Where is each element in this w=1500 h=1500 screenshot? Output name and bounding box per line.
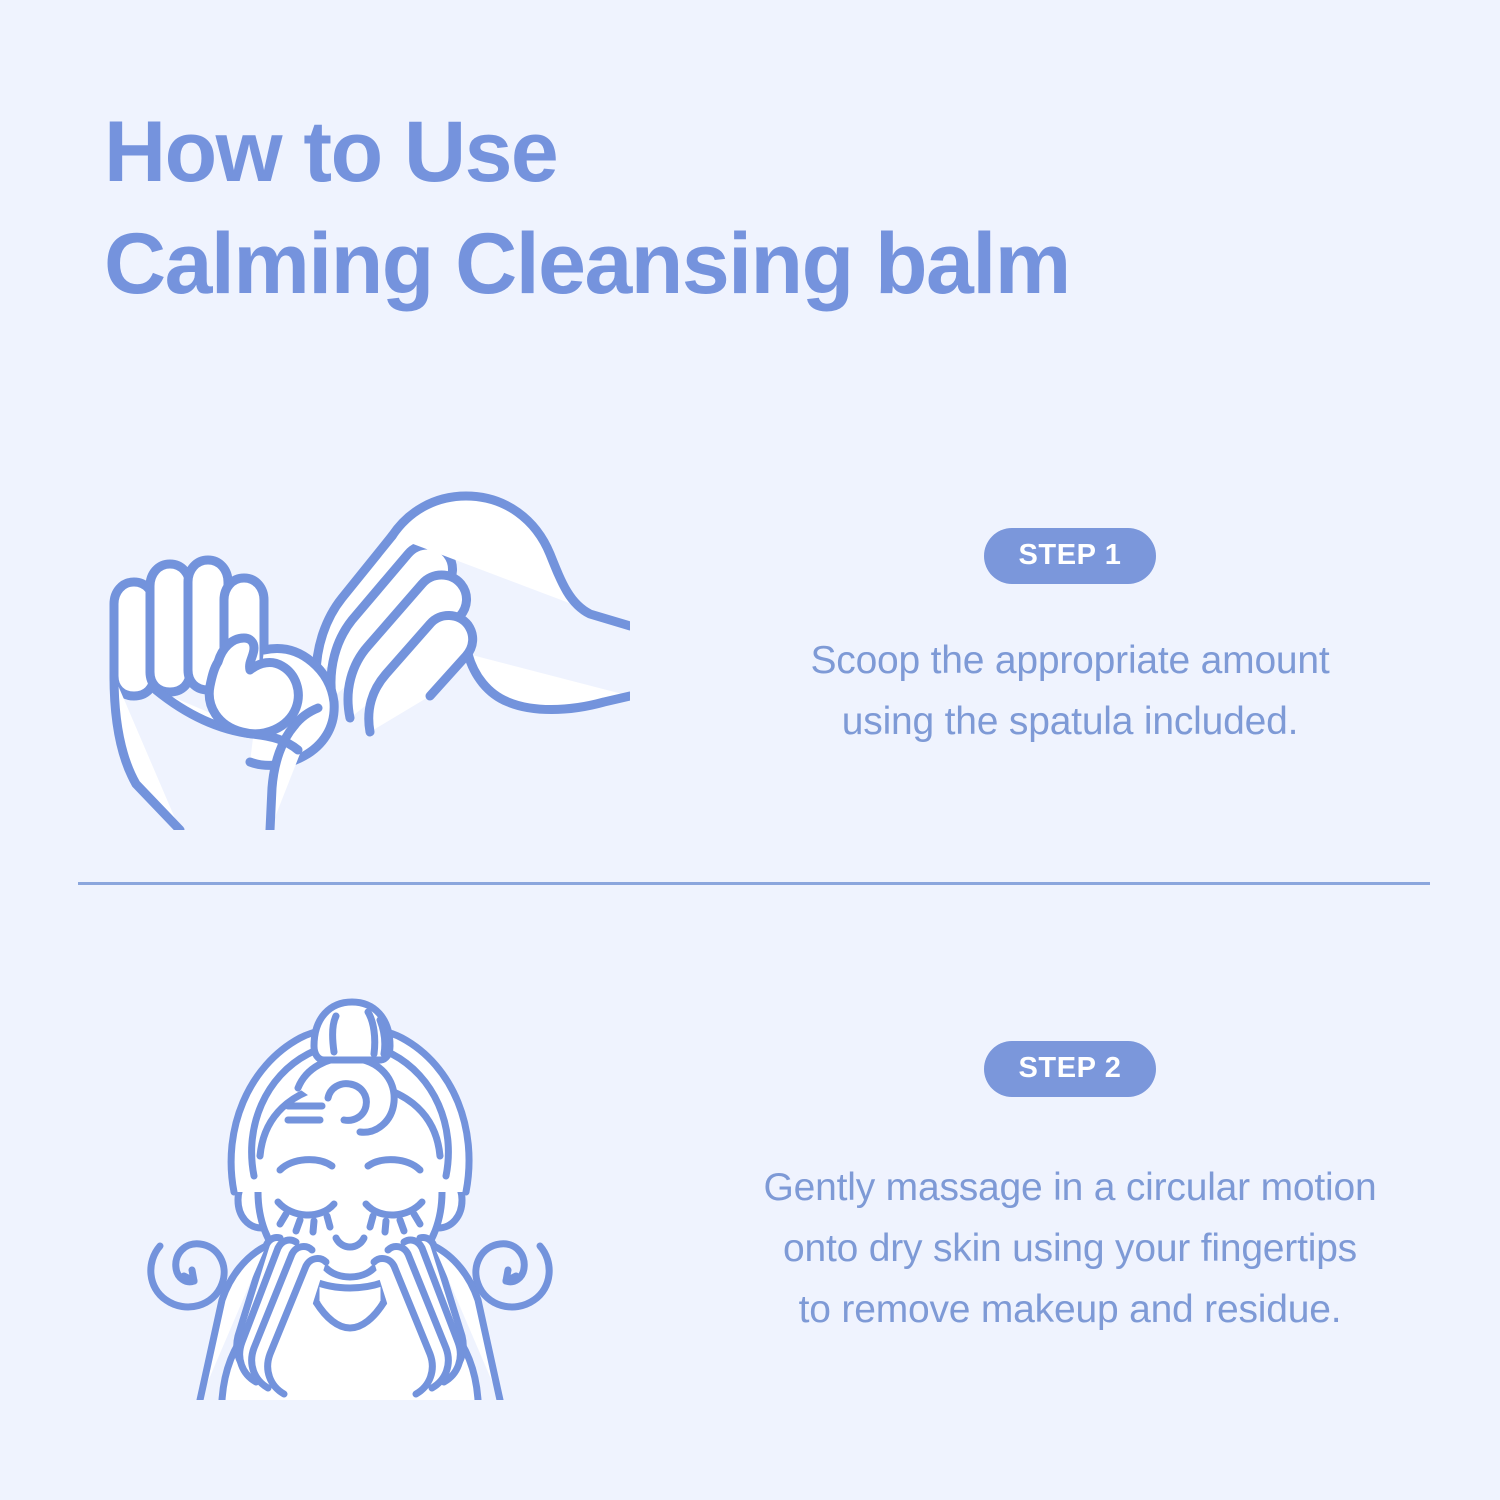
step-2-description: Gently massage in a circular motion onto… bbox=[764, 1157, 1377, 1340]
how-to-use-infographic: How to Use Calming Cleansing balm bbox=[0, 0, 1500, 1500]
step-1-badge: STEP 1 bbox=[984, 528, 1155, 584]
step-1-illustration-column bbox=[0, 450, 700, 830]
section-divider bbox=[78, 882, 1430, 885]
step-2-description-line-3: to remove makeup and residue. bbox=[764, 1279, 1377, 1340]
step-2-row: STEP 2 Gently massage in a circular moti… bbox=[0, 960, 1500, 1420]
step-2-badge: STEP 2 bbox=[984, 1041, 1155, 1097]
step-2-description-line-2: onto dry skin using your fingertips bbox=[764, 1218, 1377, 1279]
hand-with-spatula-scooping-balm-illustration bbox=[70, 450, 630, 830]
step-1-description-line-2: using the spatula included. bbox=[810, 691, 1329, 752]
step-1-description-line-1: Scoop the appropriate amount bbox=[810, 630, 1329, 691]
step-1-text-column: STEP 1 Scoop the appropriate amount usin… bbox=[700, 528, 1500, 752]
page-title-line-2: Calming Cleansing balm bbox=[104, 208, 1304, 320]
step-2-description-line-1: Gently massage in a circular motion bbox=[764, 1157, 1377, 1218]
step-1-description: Scoop the appropriate amount using the s… bbox=[810, 630, 1329, 752]
page-title-line-1: How to Use bbox=[104, 96, 1304, 208]
step-2-text-column: STEP 2 Gently massage in a circular moti… bbox=[700, 1041, 1500, 1340]
step-2-illustration-column bbox=[0, 980, 700, 1400]
woman-massaging-face-with-hair-towel-illustration bbox=[130, 980, 570, 1400]
page-title: How to Use Calming Cleansing balm bbox=[104, 96, 1304, 320]
step-1-row: STEP 1 Scoop the appropriate amount usin… bbox=[0, 440, 1500, 840]
